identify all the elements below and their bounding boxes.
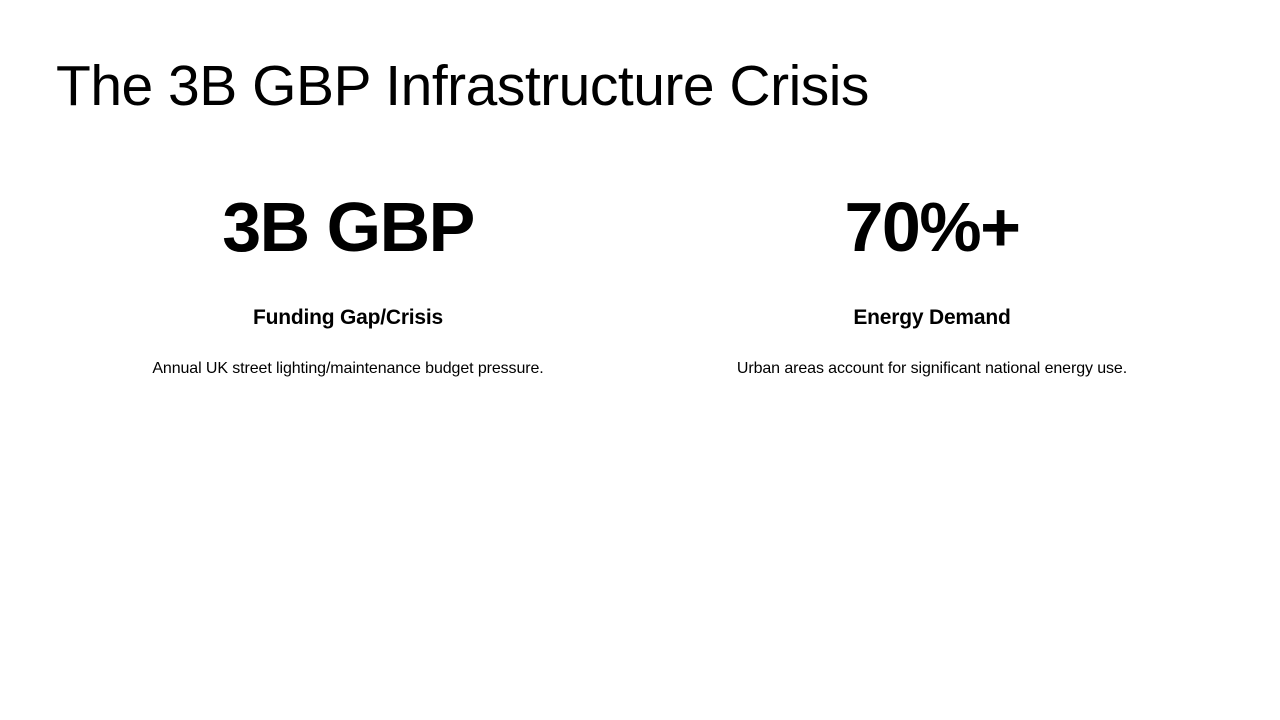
- stat-value: 3B GBP: [222, 192, 474, 262]
- stat-label: Funding Gap/Crisis: [253, 262, 443, 330]
- stat-value: 70%+: [845, 192, 1020, 262]
- stat-label: Energy Demand: [853, 262, 1010, 330]
- slide-canvas: The 3B GBP Infrastructure Crisis 3B GBP …: [0, 0, 1280, 720]
- page-title: The 3B GBP Infrastructure Crisis: [56, 55, 869, 119]
- stats-row: 3B GBP Funding Gap/Crisis Annual UK stre…: [56, 192, 1224, 380]
- stat-description: Annual UK street lighting/maintenance bu…: [152, 330, 543, 380]
- stat-block-energy-demand: 70%+ Energy Demand Urban areas account f…: [640, 192, 1224, 380]
- stat-description: Urban areas account for significant nati…: [737, 330, 1127, 380]
- stat-block-funding-gap: 3B GBP Funding Gap/Crisis Annual UK stre…: [56, 192, 640, 380]
